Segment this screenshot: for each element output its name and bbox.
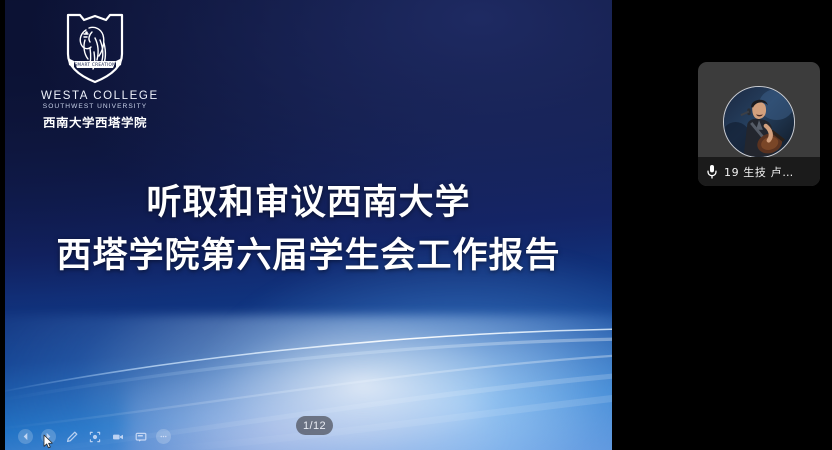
- video-button[interactable]: [110, 429, 125, 444]
- zoom-tool-button[interactable]: [87, 429, 102, 444]
- next-slide-button[interactable]: [41, 429, 56, 444]
- svg-text:SMART CREATION: SMART CREATION: [74, 62, 115, 67]
- meeting-screen: SMART CREATION WESTA COLLEGE SOUTHWEST U…: [0, 0, 832, 450]
- college-logo: SMART CREATION WESTA COLLEGE SOUTHWEST U…: [41, 12, 149, 131]
- person-with-guitar-photo: [724, 87, 794, 157]
- slide-title-line-1: 听取和审议西南大学: [5, 176, 612, 229]
- participant-footer: 19 生技 卢…: [698, 157, 820, 186]
- participant-name: 19 生技 卢…: [724, 164, 794, 180]
- shield-lion-crest-icon: SMART CREATION: [64, 12, 126, 86]
- slideshow-toolbar[interactable]: [18, 429, 171, 444]
- logo-english-name: WESTA COLLEGE: [41, 90, 149, 102]
- logo-english-subtitle: SOUTHWEST UNIVERSITY: [41, 103, 149, 110]
- microphone-icon[interactable]: [706, 164, 718, 179]
- previous-slide-button[interactable]: [18, 429, 33, 444]
- more-options-button[interactable]: [156, 429, 171, 444]
- participant-video-tile[interactable]: 19 生技 卢…: [698, 62, 820, 186]
- avatar: [723, 86, 795, 158]
- logo-chinese-name: 西南大学西塔学院: [41, 113, 149, 130]
- slide-title: 听取和审议西南大学 西塔学院第六届学生会工作报告: [5, 176, 612, 282]
- presenter-view-button[interactable]: [133, 429, 148, 444]
- pen-tool-button[interactable]: [64, 429, 79, 444]
- slide-counter: 1/12: [296, 416, 333, 435]
- shared-slide-view[interactable]: SMART CREATION WESTA COLLEGE SOUTHWEST U…: [5, 0, 612, 450]
- slide-title-line-2: 西塔学院第六届学生会工作报告: [5, 229, 612, 282]
